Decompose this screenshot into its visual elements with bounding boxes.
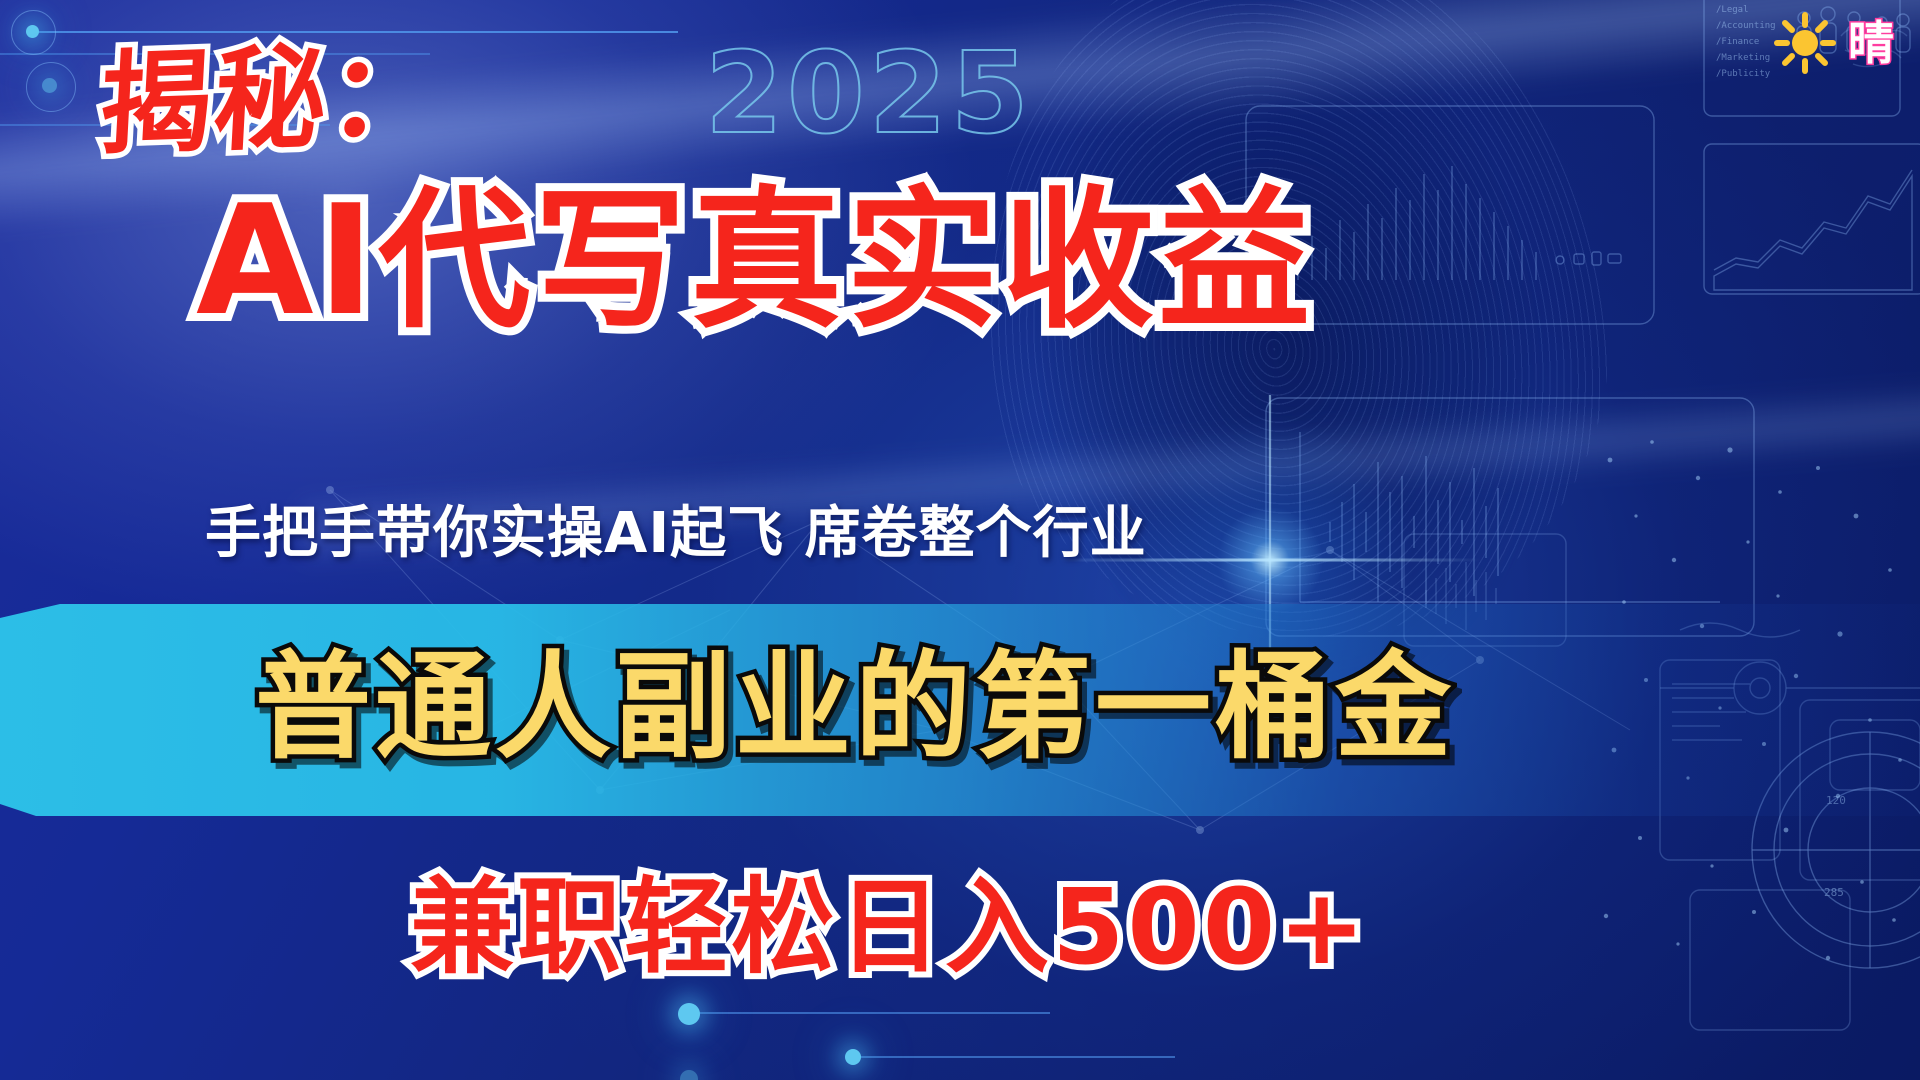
svg-text:/Finance: /Finance bbox=[1716, 37, 1759, 47]
connector-dot-6 bbox=[680, 1070, 698, 1080]
svg-text:/Publicity: /Publicity bbox=[1716, 69, 1771, 79]
svg-text:/Accounting: /Accounting bbox=[1716, 21, 1776, 31]
svg-text:285: 285 bbox=[1824, 886, 1844, 899]
bottom-headline: 兼职轻松日入500+ bbox=[410, 868, 1368, 988]
year-watermark: 2025 bbox=[705, 38, 1033, 150]
main-title: AI代写真实收益 bbox=[196, 185, 1756, 337]
subtitle-text: 手把手带你实操AI起飞 席卷整个行业 bbox=[205, 488, 1725, 569]
weather-label: 晴 bbox=[1848, 20, 1894, 66]
connector-line-5 bbox=[855, 1056, 1175, 1058]
connector-dot-4 bbox=[678, 1003, 700, 1025]
connector-ring-1 bbox=[11, 10, 56, 55]
svg-text:/Legal: /Legal bbox=[1716, 5, 1749, 15]
kicker-text: 揭秘： bbox=[96, 36, 445, 165]
weather-badge: 晴 bbox=[1772, 10, 1894, 76]
connector-dot-5 bbox=[845, 1049, 861, 1065]
connector-dot-1 bbox=[26, 25, 39, 38]
poster-canvas: /Human /Legal /Accounting /Finance /Mark… bbox=[0, 0, 1920, 1080]
connector-dot-2 bbox=[42, 78, 57, 93]
connector-ring-2 bbox=[26, 62, 76, 112]
band-headline: 普通人副业的第一桶金 bbox=[255, 650, 1455, 766]
svg-text:/Marketing: /Marketing bbox=[1716, 53, 1770, 63]
connector-line-4 bbox=[690, 1012, 1050, 1014]
sun-icon bbox=[1772, 10, 1838, 76]
